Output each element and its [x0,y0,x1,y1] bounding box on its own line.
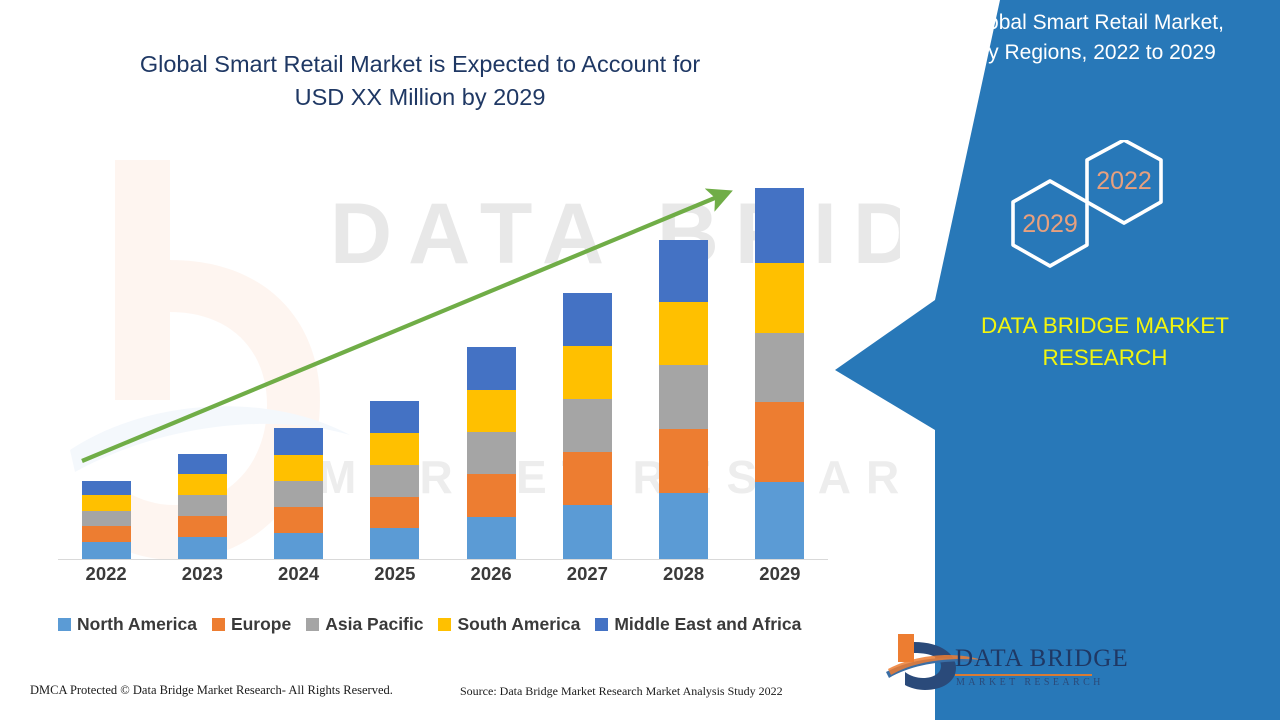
bar-column-2028 [636,141,732,559]
bar-segment [467,432,516,474]
chart-title-line1: Global Smart Retail Market is Expected t… [140,51,700,77]
chart-title: Global Smart Retail Market is Expected t… [95,48,745,115]
bar-column-2025 [347,141,443,559]
bar-segment [370,497,419,528]
bar-column-2022 [58,141,154,559]
bar-stack [563,293,612,559]
bar-segment [659,240,708,302]
x-axis-label-2026: 2026 [443,563,539,585]
bar-segment [755,333,804,402]
hexagon-badges: 2022 2029 [975,140,1205,320]
bar-stack [659,240,708,559]
bar-segment [178,537,227,559]
hexagon-label-2022: 2022 [1096,167,1152,195]
bar-segment [563,505,612,559]
brand-line1: DATA BRIDGE MARKET [981,313,1229,338]
legend-item-europe[interactable]: Europe [212,614,291,635]
legend-item-asia-pacific[interactable]: Asia Pacific [306,614,423,635]
bar-segment [274,533,323,559]
bar-segment [274,428,323,455]
bar-segment [274,455,323,481]
chart-panel: DATA BRIDGE MARKET RESEARCH Global Smart… [0,0,900,720]
chart-title-line2: USD XX Million by 2029 [295,84,546,110]
bar-segment [82,481,131,495]
brand-name: DATA BRIDGE MARKET RESEARCH [940,310,1270,374]
side-panel-title: Global Smart Retail Market, By Regions, … [925,8,1265,69]
bar-segment [82,511,131,526]
legend-item-middle-east-and-africa[interactable]: Middle East and Africa [595,614,801,635]
source-text: Source: Data Bridge Market Research Mark… [460,684,783,699]
bar-segment [659,493,708,559]
x-axis-label-2025: 2025 [347,563,443,585]
bar-stack [370,401,419,559]
bar-column-2023 [154,141,250,559]
bar-segment [274,507,323,533]
bar-segment [82,542,131,559]
brand-line2: RESEARCH [1042,345,1167,370]
bar-segment [467,347,516,390]
bar-segment [563,452,612,505]
bar-segment [370,433,419,465]
plot-area [58,140,828,560]
bar-segment [274,481,323,507]
bar-segment [178,516,227,537]
legend-item-south-america[interactable]: South America [438,614,580,635]
bar-segment [563,346,612,399]
x-axis-label-2028: 2028 [636,563,732,585]
bar-segment [370,401,419,433]
bar-segment [467,474,516,517]
x-axis-label-2022: 2022 [58,563,154,585]
legend-label: South America [457,614,580,635]
bar-stack [467,347,516,559]
logo-title: DATA BRIDGE [955,645,1129,673]
bar-segment [755,402,804,482]
bar-segment [659,365,708,429]
logo-divider [955,674,1092,676]
bar-stack [82,481,131,559]
bar-segment [178,454,227,474]
legend-swatch-icon [438,618,451,631]
legend-swatch-icon [306,618,319,631]
bar-segment [755,188,804,263]
x-axis-label-2023: 2023 [154,563,250,585]
legend-item-north-america[interactable]: North America [58,614,197,635]
bar-segment [178,474,227,495]
bar-segment [178,495,227,516]
x-axis-label-2027: 2027 [539,563,635,585]
infographic-slide: DATA BRIDGE MARKET RESEARCH Global Smart… [0,0,1280,720]
chart-legend: North AmericaEuropeAsia PacificSouth Ame… [58,614,848,635]
bar-column-2026 [443,141,539,559]
bar-column-2029 [732,141,828,559]
x-axis-label-2024: 2024 [251,563,347,585]
bar-segment [467,390,516,432]
bar-segment [370,528,419,559]
side-title-line1: Global Smart Retail Market, [966,11,1224,34]
bar-segment [755,263,804,333]
legend-label: Europe [231,614,291,635]
logo-subtitle: MARKET RESEARCH [956,677,1104,688]
copyright-text: DMCA Protected © Data Bridge Market Rese… [30,683,393,698]
bar-segment [659,302,708,365]
legend-label: North America [77,614,197,635]
bar-segment [82,526,131,542]
x-axis-labels: 20222023202420252026202720282029 [58,563,828,585]
bar-segment [563,293,612,346]
hexagon-label-2029: 2029 [1022,210,1078,238]
bar-column-2027 [539,141,635,559]
x-axis-line [58,559,828,560]
legend-swatch-icon [212,618,225,631]
side-title-line2: By Regions, 2022 to 2029 [974,41,1216,64]
bar-segment [755,482,804,559]
bar-stack [274,428,323,559]
bar-segment [370,465,419,497]
legend-swatch-icon [595,618,608,631]
legend-swatch-icon [58,618,71,631]
legend-label: Middle East and Africa [614,614,801,635]
x-axis-label-2029: 2029 [732,563,828,585]
bar-column-2024 [251,141,347,559]
bar-stack [755,188,804,559]
bar-segment [82,495,131,511]
bar-segment [659,429,708,493]
bar-segment [467,517,516,559]
bar-stack [178,454,227,559]
legend-label: Asia Pacific [325,614,423,635]
bar-group [58,141,828,559]
bar-segment [563,399,612,452]
